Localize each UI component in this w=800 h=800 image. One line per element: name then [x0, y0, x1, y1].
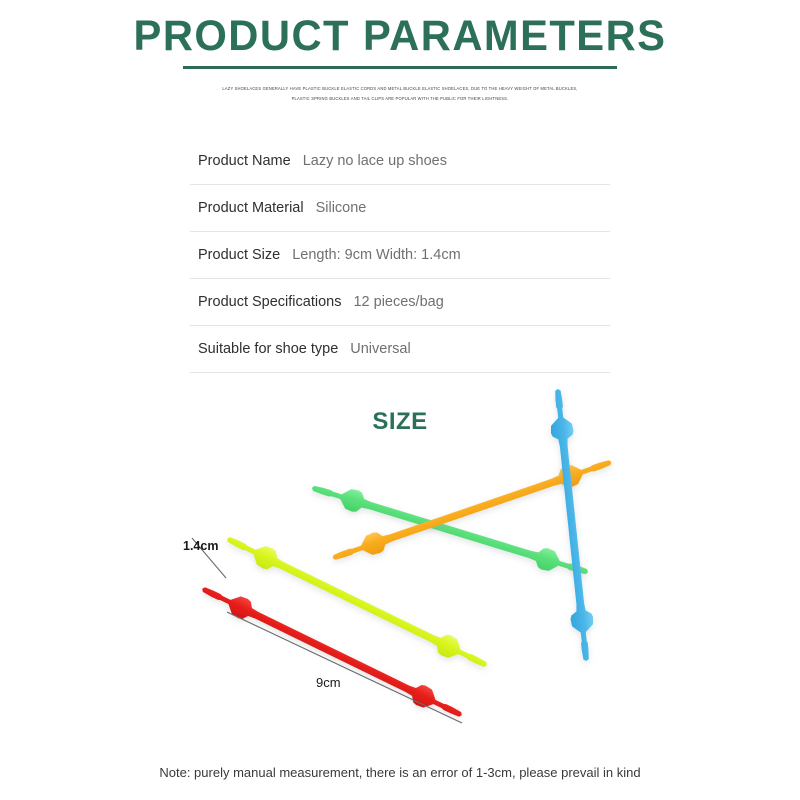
table-row: Product Name Lazy no lace up shoes	[190, 138, 610, 185]
lace-red	[197, 579, 466, 725]
spec-label: Product Name	[198, 153, 291, 169]
subtitle-line-2: PLASTIC SPRING BUCKLES AND TAIL CLIPS AR…	[200, 94, 600, 104]
spec-value: Silicone	[316, 200, 367, 216]
silicone-shoelace-illustration	[150, 380, 670, 740]
length-dimension-label: 9cm	[316, 675, 341, 690]
spec-value: Lazy no lace up shoes	[303, 153, 447, 169]
spec-value: 12 pieces/bag	[353, 294, 443, 310]
page-title: PRODUCT PARAMETERS	[12, 14, 788, 59]
lace-blue	[546, 388, 597, 662]
spec-table: Product Name Lazy no lace up shoes Produ…	[190, 138, 610, 373]
spec-label: Product Size	[198, 247, 280, 263]
page-header: PRODUCT PARAMETERS	[0, 14, 800, 69]
table-row: Product Size Length: 9cm Width: 1.4cm	[190, 232, 610, 279]
spec-label: Product Specifications	[198, 294, 341, 310]
title-underline-rule	[183, 66, 617, 69]
table-row: Product Material Silicone	[190, 185, 610, 232]
product-image	[150, 380, 670, 740]
spec-label: Product Material	[198, 200, 304, 216]
table-row: Suitable for shoe type Universal	[190, 326, 610, 373]
spec-value: Length: 9cm Width: 1.4cm	[292, 247, 460, 263]
subtitle-block: LAZY SHOELACES GENERALLY HAVE PLASTIC BU…	[200, 84, 600, 104]
spec-label: Suitable for shoe type	[198, 341, 338, 357]
spec-value: Universal	[350, 341, 410, 357]
lace-green	[309, 477, 592, 583]
footer-note: Note: purely manual measurement, there i…	[0, 765, 800, 780]
subtitle-line-1: LAZY SHOELACES GENERALLY HAVE PLASTIC BU…	[200, 84, 600, 94]
length-guide-line	[227, 612, 462, 723]
width-dimension-label: 1.4cm	[183, 539, 218, 553]
table-row: Product Specifications 12 pieces/bag	[190, 279, 610, 326]
